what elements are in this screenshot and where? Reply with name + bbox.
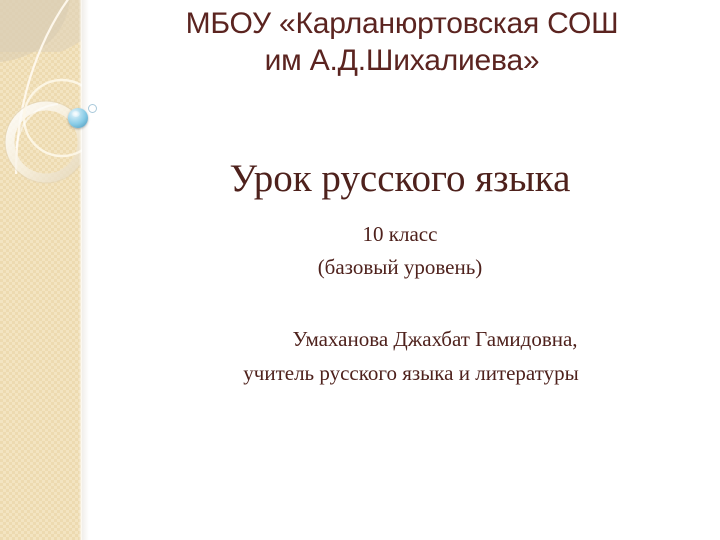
sidebar-decoration-graphics: [0, 0, 82, 540]
subtitle-line-grade: 10 класс: [110, 218, 690, 251]
subtitle-line-level: (базовый уровень): [110, 251, 690, 284]
author-role: учитель русского языка и литературы: [110, 356, 702, 390]
slide-title: МБОУ «Карланюртовская СОШ им А.Д.Шихалие…: [112, 6, 692, 79]
slide-subtitle: 10 класс (базовый уровень): [110, 218, 690, 284]
sphere-gloss-highlight: [72, 111, 80, 117]
slide-author: Умаханова Джахбат Гамидовна, учитель рус…: [110, 322, 702, 390]
heading-text: Урок русского языка: [110, 157, 690, 201]
decorative-sidebar: [0, 0, 82, 540]
title-line-2: им А.Д.Шихалиева»: [265, 44, 540, 77]
author-name: Умаханова Джахбат Гамидовна,: [110, 322, 702, 356]
slide-content-area: МБОУ «Карланюртовская СОШ им А.Д.Шихалие…: [82, 0, 720, 540]
title-line-1: МБОУ «Карланюртовская СОШ: [186, 7, 619, 40]
slide-heading: Урок русского языка: [110, 157, 690, 201]
title-text: МБОУ «Карланюртовская СОШ им А.Д.Шихалие…: [112, 6, 692, 79]
presentation-slide: МБОУ «Карланюртовская СОШ им А.Д.Шихалие…: [0, 0, 720, 540]
